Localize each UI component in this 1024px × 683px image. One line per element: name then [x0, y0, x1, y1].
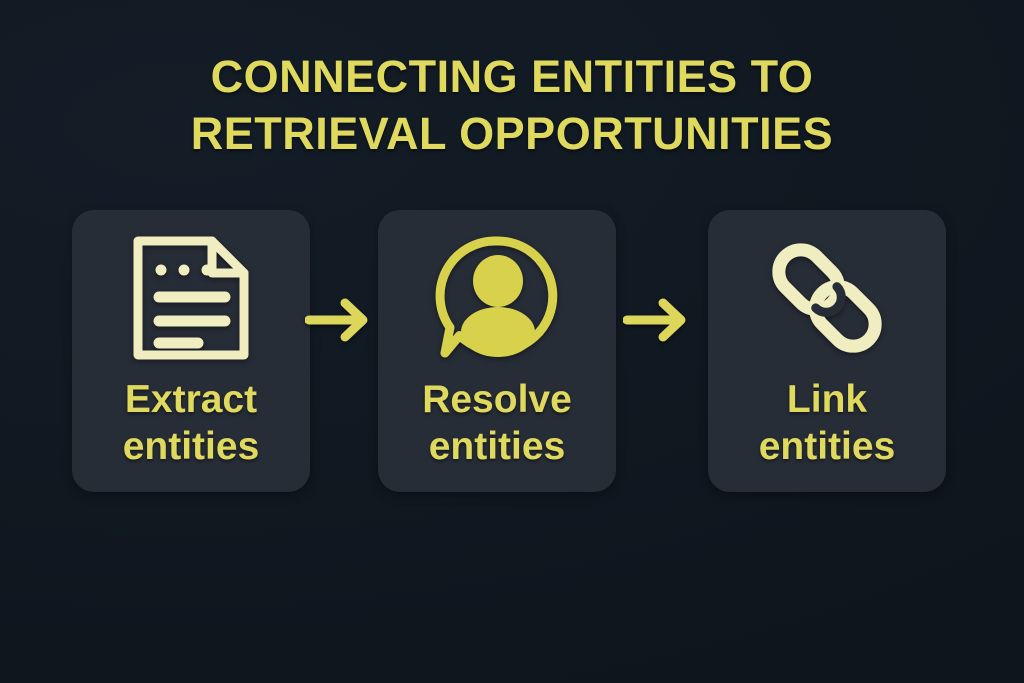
process-flow: Extract entities Resolve entities — [0, 210, 1024, 492]
step-label-extract: Extract entities — [117, 376, 266, 470]
slide-canvas: Connecting entities to retrieval opportu… — [0, 0, 1024, 683]
step-card-resolve[interactable]: Resolve entities — [378, 210, 616, 492]
arrow-right-icon-1 — [305, 296, 375, 344]
person-speech-bubble-icon — [429, 230, 565, 366]
arrow-right-icon-2 — [623, 296, 693, 344]
step-label-link: Link entities — [753, 376, 902, 470]
step-label-resolve: Resolve entities — [416, 376, 578, 470]
step-card-extract[interactable]: Extract entities — [72, 210, 310, 492]
step-card-link[interactable]: Link entities — [708, 210, 946, 492]
chain-link-icon — [759, 230, 895, 366]
page-title: Connecting entities to retrieval opportu… — [0, 48, 1024, 162]
document-icon — [123, 230, 259, 366]
